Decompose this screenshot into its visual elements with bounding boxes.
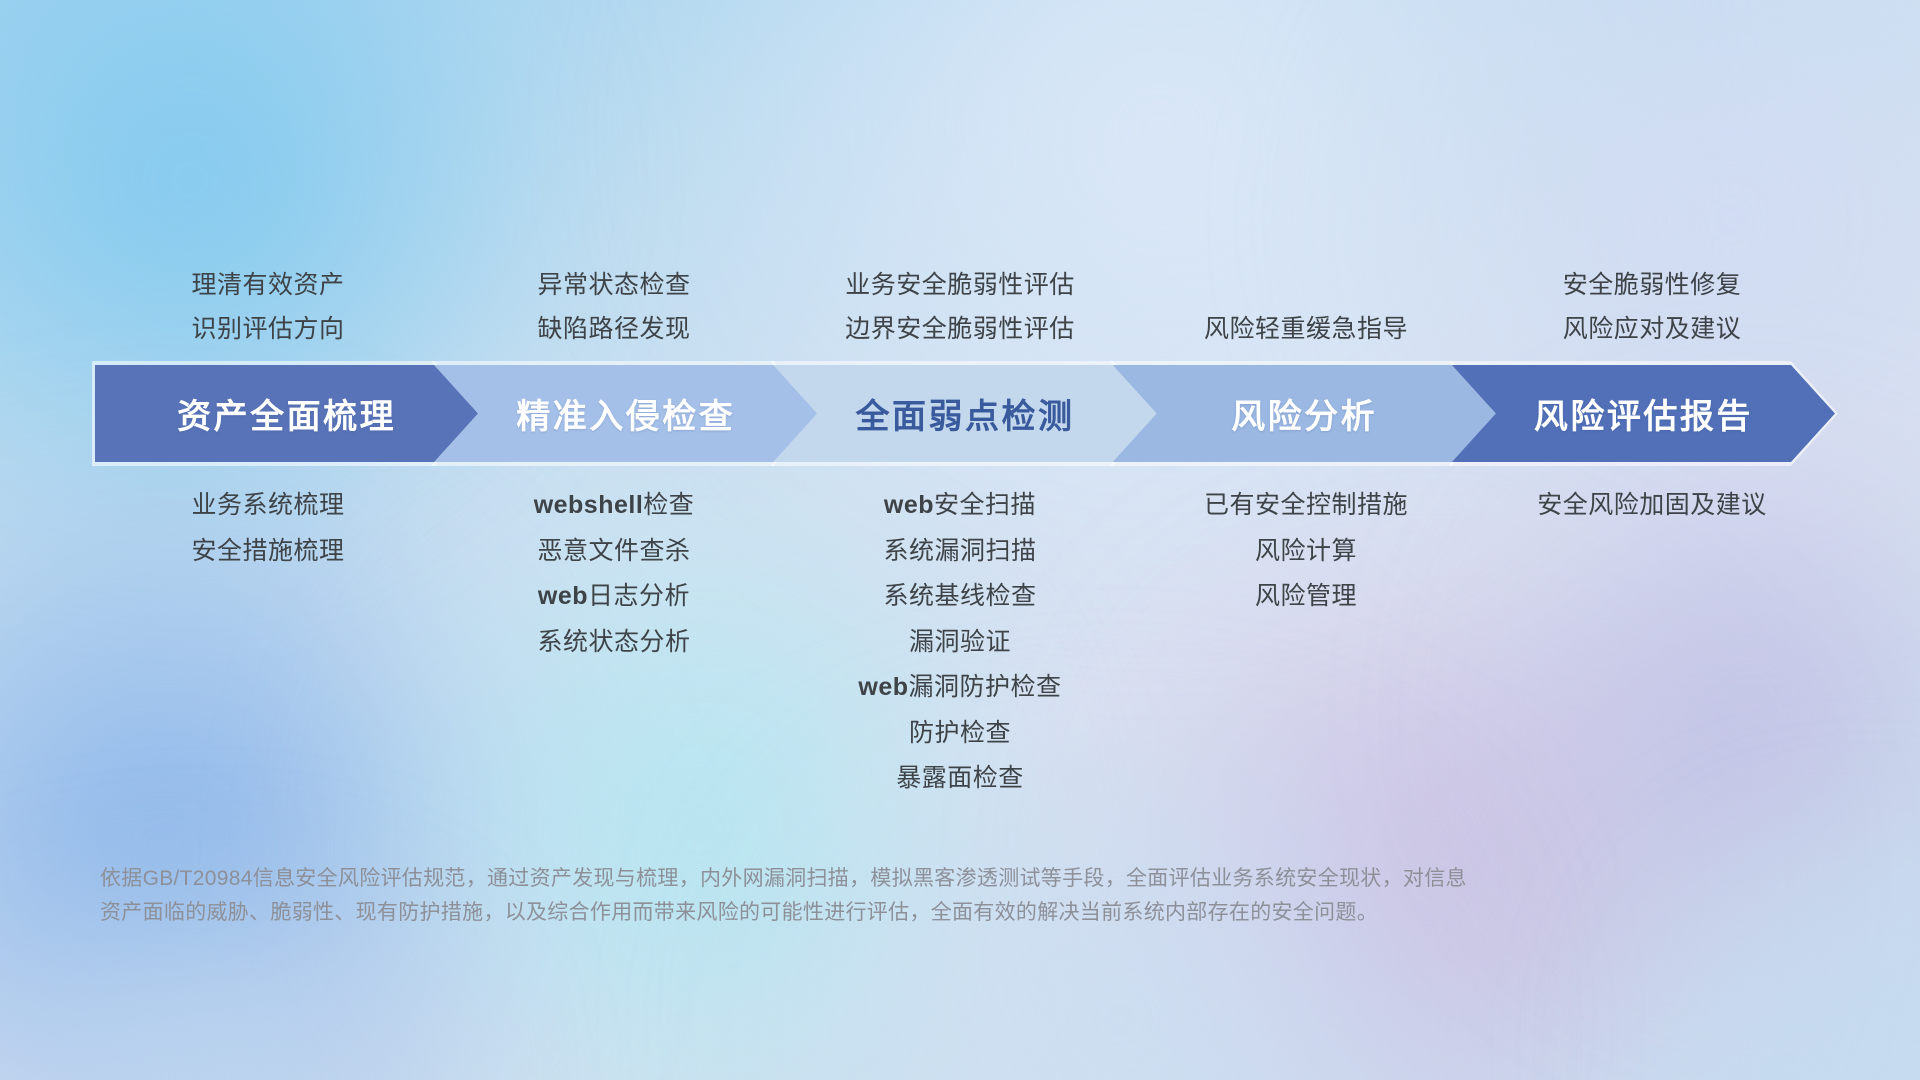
- slide-canvas: 理清有效资产识别评估方向业务系统梳理安全措施梳理异常状态检查缺陷路径发现webs…: [0, 0, 1920, 1080]
- item-list-assessment-report: 安全风险加固及建议: [1479, 490, 1825, 522]
- list-item: 业务系统梳理: [191, 490, 344, 522]
- list-item: 安全风险加固及建议: [1537, 490, 1767, 522]
- top-note-list-asset-inventory: 理清有效资产识别评估方向: [95, 270, 441, 345]
- chevron-stage-assessment-report[interactable]: 风险评估报告: [1452, 365, 1835, 462]
- top-note-list-risk-analysis: 风险轻重缓急指导: [1133, 314, 1479, 346]
- chevron-stage-label: 风险分析: [1231, 389, 1377, 438]
- top-note: 识别评估方向: [191, 314, 344, 346]
- top-note: 风险轻重缓急指导: [1204, 314, 1408, 346]
- list-item: web日志分析: [538, 581, 690, 613]
- list-item: 系统状态分析: [537, 627, 690, 659]
- list-item: webshell检查: [534, 490, 695, 522]
- item-list-intrusion-check: webshell检查恶意文件查杀web日志分析系统状态分析: [441, 490, 787, 658]
- top-note: 缺陷路径发现: [537, 314, 690, 346]
- chevron-stage-label: 风险评估报告: [1534, 389, 1753, 438]
- list-item: 系统漏洞扫描: [883, 536, 1036, 568]
- list-item: web漏洞防护检查: [858, 672, 1061, 704]
- list-item: 风险计算: [1255, 536, 1357, 568]
- chevron-stage-risk-analysis[interactable]: 风险分析: [1113, 365, 1496, 462]
- item-list-asset-inventory: 业务系统梳理安全措施梳理: [95, 490, 441, 567]
- footer-line-1: 依据GB/T20984信息安全风险评估规范，通过资产发现与梳理，内外网漏洞扫描，…: [100, 862, 1660, 896]
- chevron-stage-asset-inventory[interactable]: 资产全面梳理: [95, 365, 478, 462]
- list-item: 暴露面检查: [896, 763, 1024, 795]
- top-note-list-intrusion-check: 异常状态检查缺陷路径发现: [441, 270, 787, 345]
- chevron-stage-weakness-detection[interactable]: 全面弱点检测: [773, 365, 1156, 462]
- list-item: 漏洞验证: [909, 627, 1011, 659]
- item-list-risk-analysis: 已有安全控制措施风险计算风险管理: [1133, 490, 1479, 613]
- top-note: 理清有效资产: [191, 270, 344, 302]
- top-note: 风险应对及建议: [1563, 314, 1742, 346]
- list-item: 系统基线检查: [883, 581, 1036, 613]
- list-item: 恶意文件查杀: [537, 536, 690, 568]
- top-note: 异常状态检查: [537, 270, 690, 302]
- process-chevron-band: 资产全面梳理精准入侵检查全面弱点检测风险分析风险评估报告: [95, 365, 1835, 462]
- chevron-stage-label: 全面弱点检测: [855, 389, 1074, 438]
- chevron-stage-intrusion-check[interactable]: 精准入侵检查: [434, 365, 817, 462]
- list-item: web安全扫描: [884, 490, 1036, 522]
- top-note: 业务安全脆弱性评估: [845, 270, 1075, 302]
- item-list-weakness-detection: web安全扫描系统漏洞扫描系统基线检查漏洞验证web漏洞防护检查防护检查暴露面检…: [787, 490, 1133, 795]
- list-item: 已有安全控制措施: [1204, 490, 1408, 522]
- list-item: 安全措施梳理: [191, 536, 344, 568]
- footer-line-2: 资产面临的威胁、脆弱性、现有防护措施，以及综合作用而带来风险的可能性进行评估，全…: [100, 896, 1660, 930]
- list-item: 防护检查: [909, 718, 1011, 750]
- chevron-stage-label: 精准入侵检查: [516, 389, 735, 438]
- list-item: 风险管理: [1255, 581, 1357, 613]
- top-note-list-weakness-detection: 业务安全脆弱性评估边界安全脆弱性评估: [787, 270, 1133, 345]
- top-note-list-assessment-report: 安全脆弱性修复风险应对及建议: [1479, 270, 1825, 345]
- footer-description: 依据GB/T20984信息安全风险评估规范，通过资产发现与梳理，内外网漏洞扫描，…: [100, 862, 1660, 930]
- top-note: 边界安全脆弱性评估: [845, 314, 1075, 346]
- top-note: 安全脆弱性修复: [1563, 270, 1742, 302]
- chevron-stage-label: 资产全面梳理: [177, 389, 396, 438]
